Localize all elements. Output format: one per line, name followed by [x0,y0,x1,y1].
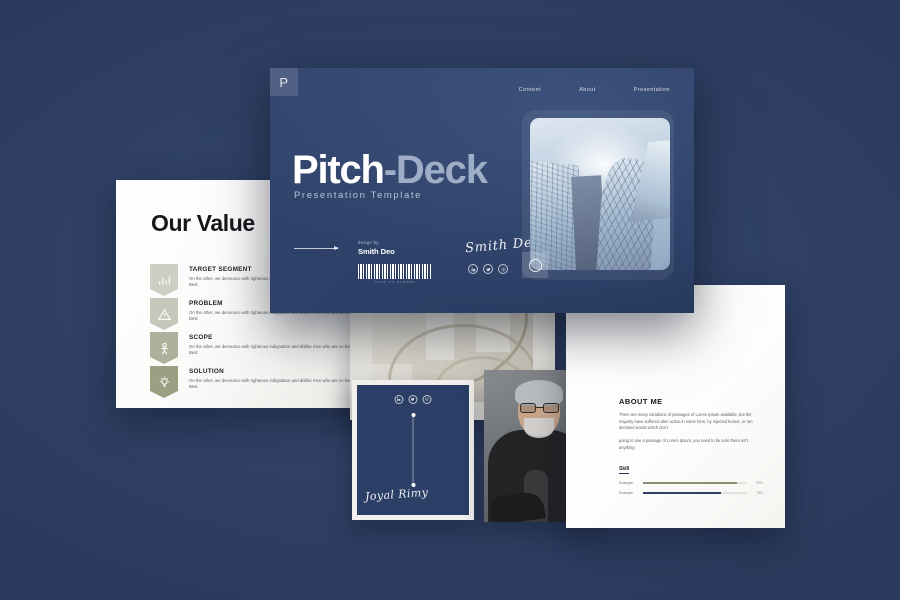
person-icon [150,332,178,364]
lightbulb-icon [150,366,178,398]
hero-subtitle: Presentation Template [294,190,422,201]
skill-heading: Skill [619,466,629,474]
nav-item-about[interactable]: About [579,87,596,93]
skill-percent: 75% [751,491,763,495]
about-me-paragraph-2: going to use a passage of Lorem Ipsum, y… [619,438,763,451]
value-item-heading: SCOPE [189,334,364,341]
skill-progress-fill [643,482,737,484]
about-me-heading: ABOUT ME [619,397,763,406]
linkedin-icon[interactable] [468,264,478,274]
slide-pitch-deck-hero[interactable]: P Content About Presentation Pitch-Deck … [270,68,694,313]
vertical-axis-line [413,415,414,485]
skill-row: Example 90% [619,481,763,485]
bar-chart-icon [150,264,178,296]
skill-progress-track [643,492,747,494]
dribbble-icon[interactable] [423,395,432,404]
mockup-stage: Our Value TARGET SEGMENT On the other, w… [0,0,900,600]
value-item-body: On the other, we denounce with righteous… [189,378,364,391]
barcode-number: YOUR CO NUMBER [358,280,432,284]
twitter-icon[interactable] [483,264,493,274]
hero-photo-frame [522,110,674,280]
warning-triangle-icon [150,298,178,330]
skill-label: Example [619,481,639,485]
slide-about-me[interactable]: ABOUT ME There are many variations of pa… [566,285,785,528]
value-item-heading: SOLUTION [189,368,364,375]
signature-text: Joyal Rimy [365,486,429,503]
dribbble-icon[interactable] [498,264,508,274]
value-item-body: On the other, we denounce with righteous… [189,344,364,357]
hero-social-links[interactable] [468,264,508,274]
barcode-icon [358,264,432,279]
title-dim: Deck [396,148,487,192]
skill-percent: 90% [751,481,763,485]
design-credit: design by. Smith Deo [358,240,395,256]
linkedin-icon[interactable] [395,395,404,404]
skyscraper-photo [530,118,670,270]
skill-progress-fill [643,492,721,494]
compass-icon[interactable] [522,252,548,278]
page-title: Pitch-Deck [292,150,487,190]
skill-label: Example [619,491,639,495]
design-by-name: Smith Deo [358,247,395,256]
nav-item-content[interactable]: Content [519,87,541,93]
twitter-icon[interactable] [409,395,418,404]
skill-progress-track [643,482,747,484]
title-main: Pitch [292,148,384,192]
slide-signature[interactable]: Joyal Rimy [352,380,474,520]
about-me-paragraph-1: There are many variations of passages of… [619,412,763,432]
skill-row: Example 75% [619,491,763,495]
signature-social-links[interactable] [395,395,432,404]
arrow-right-icon [294,248,338,249]
design-by-label: design by. [358,240,395,245]
brand-logo[interactable]: P [270,68,298,96]
our-value-title: Our Value [151,210,255,237]
nav-item-presentation[interactable]: Presentation [634,87,670,93]
title-separator: - [384,148,396,192]
hero-navigation[interactable]: Content About Presentation [519,87,670,93]
